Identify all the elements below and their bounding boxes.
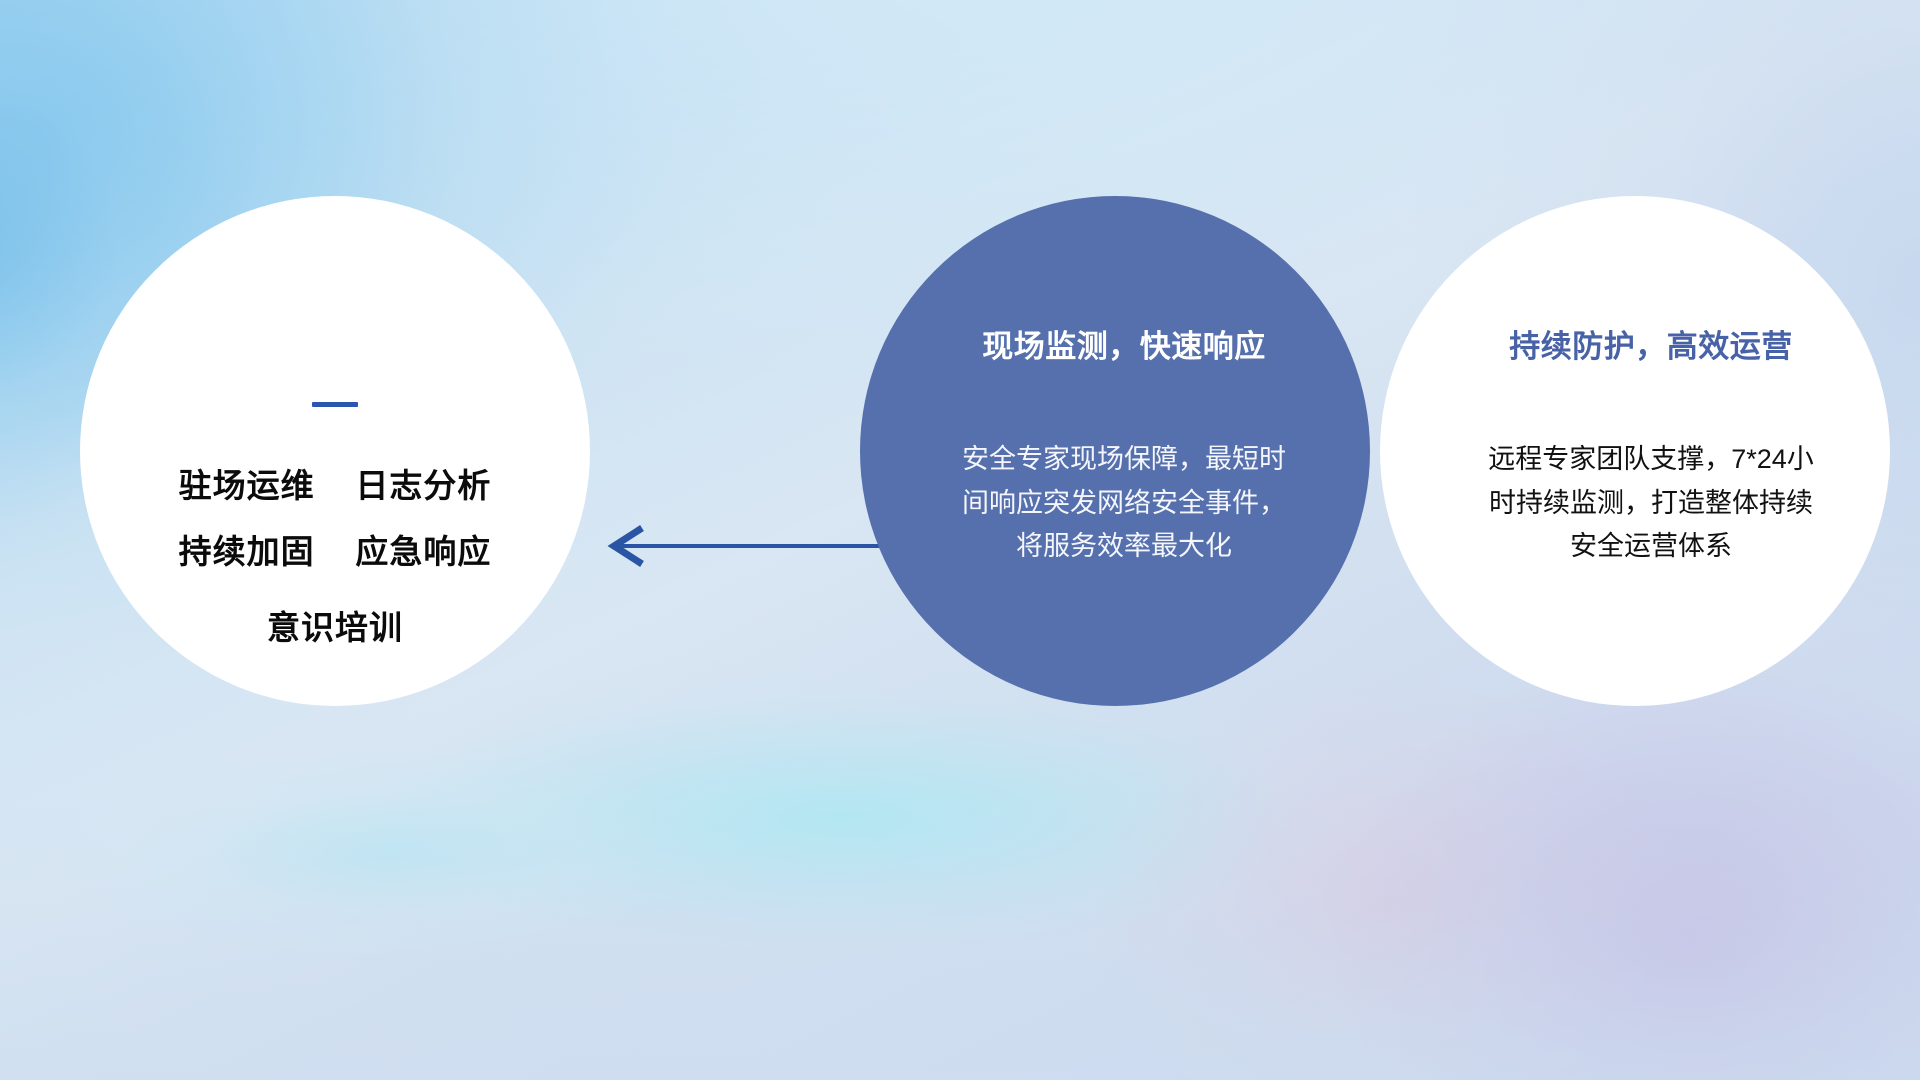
card-middle-content: 现场监测，快速响应 安全专家现场保障，最短时间响应突发网络安全事件，将服务效率最… [860,196,1370,706]
card-middle-body: 安全专家现场保障，最短时间响应突发网络安全事件，将服务效率最大化 [959,438,1289,569]
card-left-keyword-list: 驻场运维 日志分析 持续加固 应急响应 意识培训 [179,469,492,644]
accent-divider [312,402,358,407]
card-right-title: 持续防护，高效运营 [1509,321,1793,366]
flow-arrow-left-icon [596,518,886,574]
card-left-content: 驻场运维 日志分析 持续加固 应急响应 意识培训 [80,196,590,706]
card-right-content: 持续防护，高效运营 远程专家团队支撑，7*24小时持续监测，打造整体持续安全运营… [1380,196,1890,706]
card-middle-title: 现场监测，快速响应 [982,321,1266,366]
slide-canvas: 驻场运维 日志分析 持续加固 应急响应 意识培训 现场监测，快速响应 安全专家现… [0,0,1920,1080]
card-right-body: 远程专家团队支撑，7*24小时持续监测，打造整体持续安全运营体系 [1476,438,1826,569]
list-item: 驻场运维 日志分析 [179,469,492,502]
list-item: 持续加固 应急响应 [179,535,492,568]
list-item: 意识培训 [179,611,492,644]
